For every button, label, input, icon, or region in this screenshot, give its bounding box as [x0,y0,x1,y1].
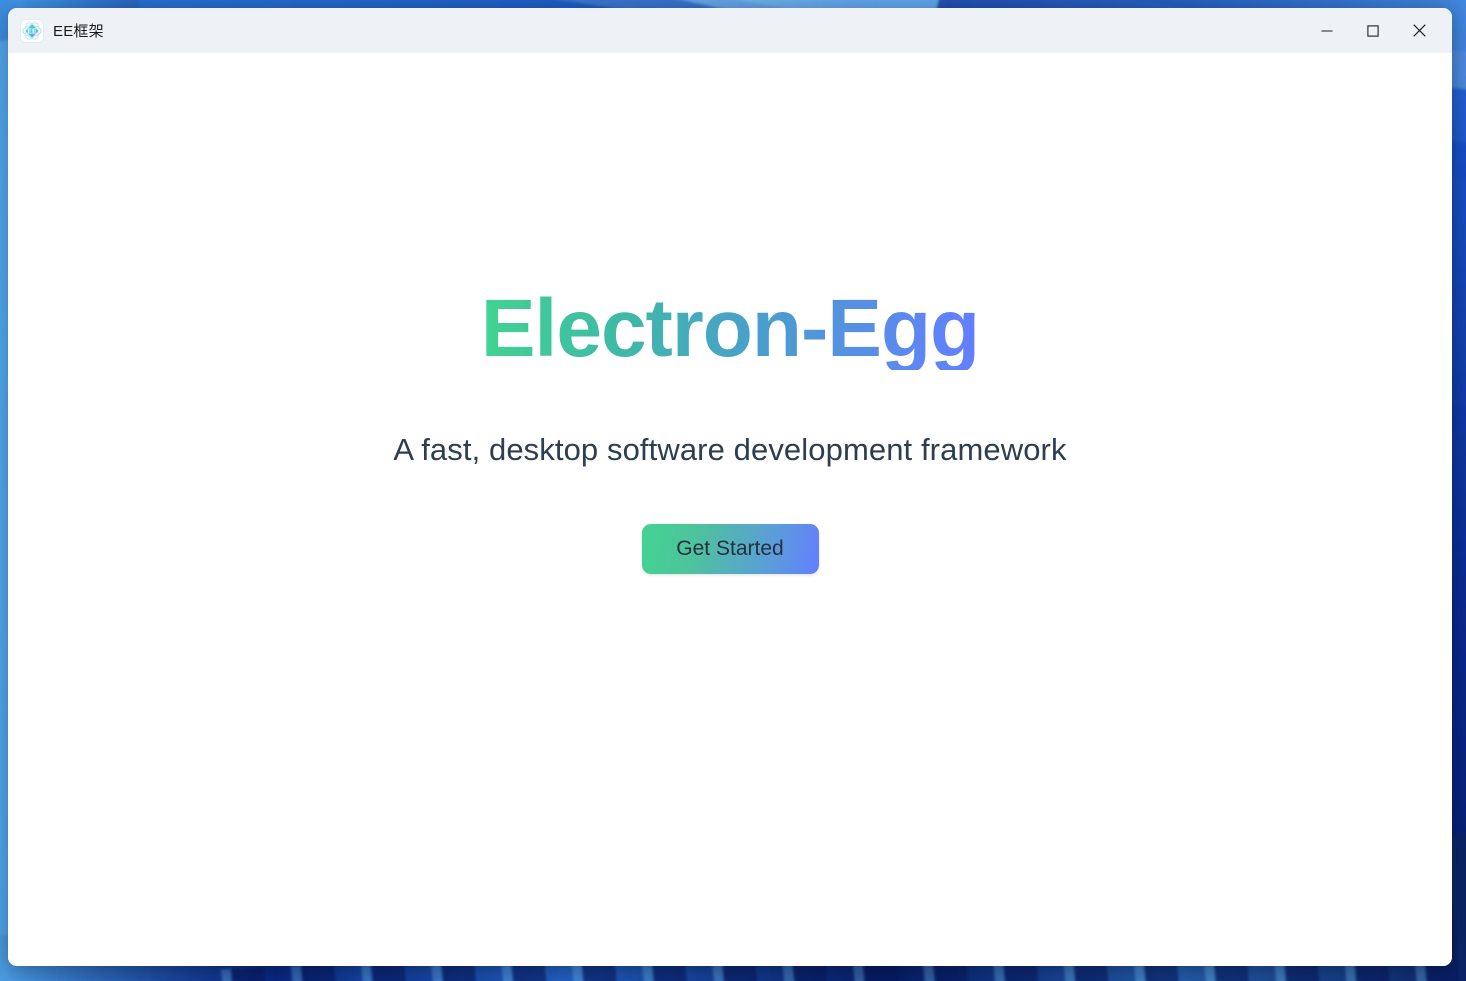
close-button[interactable] [1396,8,1442,53]
get-started-button[interactable]: Get Started [642,524,819,574]
window-controls [1304,8,1442,53]
page-title: Electron-Egg [481,288,979,370]
desktop-wallpaper: EE EE框架 [0,0,1466,981]
maximize-button[interactable] [1350,8,1396,53]
minimize-button[interactable] [1304,8,1350,53]
svg-text:EE: EE [27,28,37,35]
window-title: EE框架 [53,20,104,41]
title-bar-left: EE EE框架 [8,19,104,43]
ee-app-icon: EE [20,19,44,43]
page-subtitle: A fast, desktop software development fra… [393,432,1066,468]
title-bar[interactable]: EE EE框架 [8,8,1452,53]
application-window: EE EE框架 [8,8,1452,966]
main-content: Electron-Egg A fast, desktop software de… [8,53,1452,966]
